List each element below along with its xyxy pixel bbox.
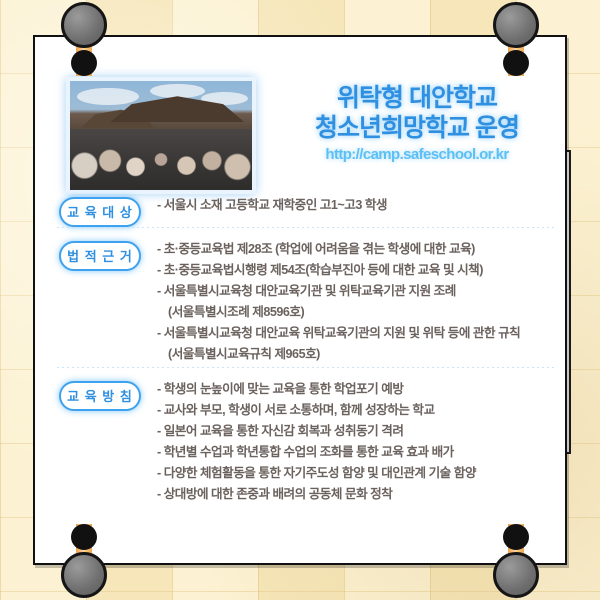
list-item: (서울특별시교육규칙 제965호) — [157, 344, 555, 365]
section-label-education-target: 교 육 대 상 — [59, 197, 141, 227]
section-lines-education-policy: - 학생의 눈높이에 맞는 교육을 통한 학업포기 예방 - 교사와 부모, 학… — [141, 379, 555, 505]
page-title-line-2: 청소년희망학교 운영 — [267, 113, 567, 143]
list-item: (서울특별시조례 제8596호) — [157, 302, 555, 323]
section-label-education-policy: 교 육 방 침 — [59, 381, 141, 411]
list-item: - 학생의 눈높이에 맞는 교육을 통한 학업포기 예방 — [157, 379, 555, 400]
list-item: - 학년별 수업과 학년통합 수업의 조화를 통한 교육 효과 배가 — [157, 442, 555, 463]
section-legal-basis: 법 적 근 거 - 초·중등교육법 제28조 (학업에 어려움을 겪는 학생에 … — [35, 239, 565, 365]
divider-2 — [35, 367, 565, 368]
page-title-line-1: 위탁형 대안학교 — [267, 83, 567, 113]
section-education-target: 교 육 대 상 - 서울시 소재 고등학교 재학중인 고1~고3 학생 — [35, 195, 565, 227]
top-right-pin-icon — [493, 2, 539, 76]
list-item: - 일본어 교육을 통한 자신감 회복과 성취동기 격려 — [157, 421, 555, 442]
list-item: - 서울특별시교육청 대안교육 위탁교육기관의 지원 및 위탁 등에 관한 규칙 — [157, 323, 555, 344]
divider-1 — [35, 227, 565, 228]
section-education-policy: 교 육 방 침 - 학생의 눈높이에 맞는 교육을 통한 학업포기 예방 - 교… — [35, 379, 565, 505]
list-item: - 다양한 체험활동을 통한 자기주도성 함양 및 대인관계 기술 함양 — [157, 463, 555, 484]
list-item: - 서울시 소재 고등학교 재학중인 고1~고3 학생 — [157, 195, 555, 216]
poster-sheet: 위탁형 대안학교 청소년희망학교 운영 http://camp.safescho… — [33, 35, 567, 565]
list-item: - 교사와 부모, 학생이 서로 소통하며, 함께 성장하는 학교 — [157, 400, 555, 421]
poster-header: 위탁형 대안학교 청소년희망학교 운영 http://camp.safescho… — [35, 37, 565, 187]
top-left-pin-icon — [61, 2, 107, 76]
list-item: - 초·중등교육법시행령 제54조(학습부진아 등에 대한 교육 및 시책) — [157, 260, 555, 281]
poster-title-block: 위탁형 대안학교 청소년희망학교 운영 http://camp.safescho… — [267, 83, 567, 163]
section-lines-legal-basis: - 초·중등교육법 제28조 (학업에 어려움을 겪는 학생에 대한 교육) -… — [141, 239, 555, 365]
website-url[interactable]: http://camp.safeschool.or.kr — [267, 146, 567, 163]
list-item: - 상대방에 대한 존중과 배려의 공동체 문화 정착 — [157, 484, 555, 505]
group-photo — [66, 77, 256, 194]
bottom-left-pin-icon — [61, 524, 107, 598]
section-label-legal-basis: 법 적 근 거 — [59, 241, 141, 271]
list-item: - 서울특별시교육청 대안교육기관 및 위탁교육기관 지원 조례 — [157, 281, 555, 302]
bottom-right-pin-icon — [493, 524, 539, 598]
list-item: - 초·중등교육법 제28조 (학업에 어려움을 겪는 학생에 대한 교육) — [157, 239, 555, 260]
section-lines-education-target: - 서울시 소재 고등학교 재학중인 고1~고3 학생 — [141, 195, 555, 216]
student-group — [70, 129, 252, 190]
